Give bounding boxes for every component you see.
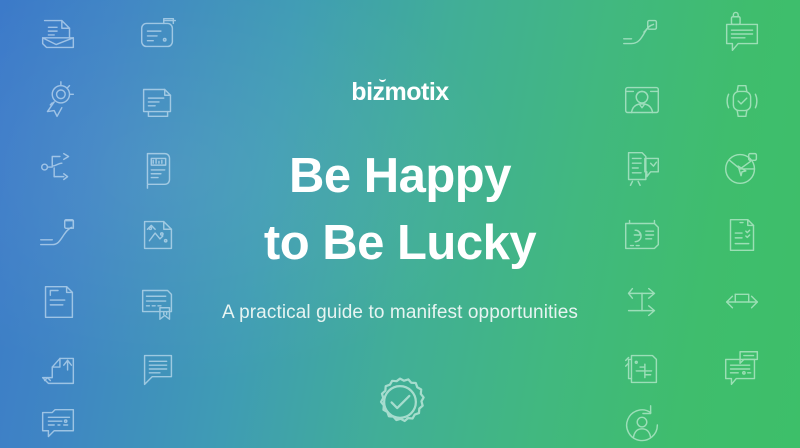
bidirectional-arrow-icon <box>719 279 765 325</box>
headline-line-2: to Be Lucky <box>264 210 536 277</box>
promotional-banner: bizmotix Be Happy to Be Lucky A practica… <box>0 0 800 448</box>
growth-arrow-icon <box>35 212 81 258</box>
speech-bubble-text-icon <box>135 346 181 392</box>
page-subtitle: A practical guide to manifest opportunit… <box>222 302 578 324</box>
arrow-exchange-icon <box>619 279 665 325</box>
brand-logo: bizmotix <box>351 78 448 107</box>
checklist-document-icon <box>719 212 765 258</box>
document-envelope-icon <box>35 11 81 57</box>
document-chat-icon <box>619 145 665 191</box>
document-plus-grid-icon <box>619 346 665 392</box>
headline-line-1: Be Happy <box>264 143 536 210</box>
folder-chart-icon <box>35 346 81 392</box>
page-title: Be Happy to Be Lucky <box>264 143 536 276</box>
document-page-icon <box>35 279 81 325</box>
person-refresh-circle-icon <box>619 402 665 448</box>
chat-bubbles-icon <box>719 346 765 392</box>
locked-chat-bubble-icon <box>719 11 765 57</box>
brand-logo-text: bizmotix <box>351 78 448 106</box>
person-card-icon <box>619 78 665 124</box>
id-profile-card-icon <box>619 212 665 258</box>
gear-check-badge-icon <box>372 374 428 430</box>
document-speech-bubble-icon <box>35 402 81 448</box>
map-document-icon <box>135 212 181 258</box>
bookmarked-card-icon <box>135 279 181 325</box>
pie-chart-cursor-icon <box>719 145 765 191</box>
flow-diagram-icon <box>35 145 81 191</box>
card-with-clip-icon <box>135 11 181 57</box>
document-chart-icon <box>135 145 181 191</box>
rising-arrow-icon <box>619 11 665 57</box>
folded-document-icon <box>135 78 181 124</box>
right-icon-decoration-layer <box>592 0 792 448</box>
smartwatch-check-icon <box>719 78 765 124</box>
left-icon-decoration-layer <box>8 0 208 448</box>
award-ribbon-icon <box>35 78 81 124</box>
